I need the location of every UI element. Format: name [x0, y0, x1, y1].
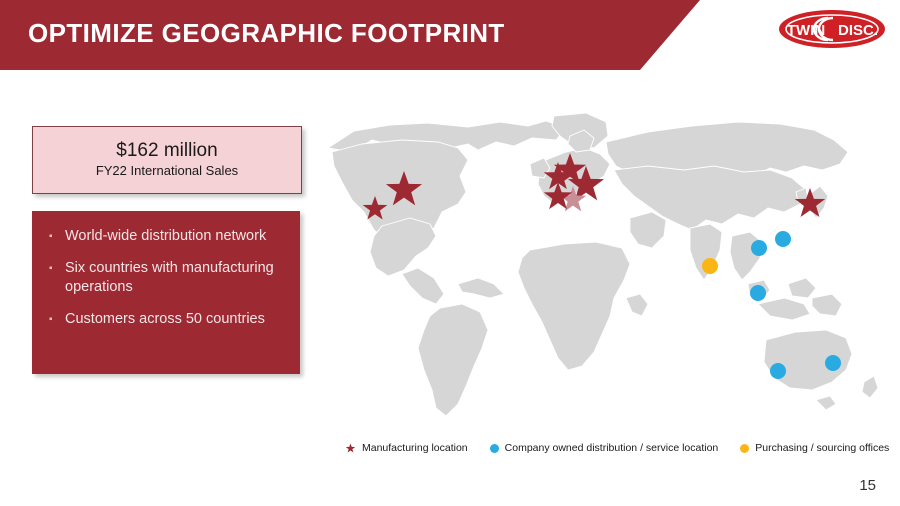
- list-item: ▪ Six countries with manufacturing opera…: [46, 259, 286, 297]
- twin-disc-logo: TWIN DISC.: [776, 6, 888, 52]
- logo-text-right: DISC.: [838, 22, 878, 39]
- bullet-text: Six countries with manufacturing operati…: [65, 259, 286, 297]
- sales-amount: $162 million: [116, 140, 217, 162]
- bullet-text: World-wide distribution network: [65, 227, 266, 246]
- legend-label-purchasing: Purchasing / sourcing offices: [755, 442, 889, 454]
- legend-item-distribution: Company owned distribution / service loc…: [490, 442, 719, 454]
- bullet-marker-icon: ▪: [46, 227, 65, 246]
- dot-china-east-icon: [775, 231, 791, 247]
- list-item: ▪ Customers across 50 countries: [46, 310, 286, 329]
- world-map: [318, 108, 893, 428]
- legend-item-manufacturing: Manufacturing location: [345, 442, 468, 454]
- sales-caption: FY22 International Sales: [96, 163, 238, 180]
- circle-icon: [740, 444, 749, 453]
- circle-icon: [490, 444, 499, 453]
- slide-root: OPTIMIZE GEOGRAPHIC FOOTPRINT TWIN DISC.…: [0, 0, 900, 506]
- highlights-box: ▪ World-wide distribution network ▪ Six …: [32, 211, 300, 374]
- bullet-text: Customers across 50 countries: [65, 310, 265, 329]
- list-item: ▪ World-wide distribution network: [46, 227, 286, 246]
- dot-australia-w-icon: [770, 363, 786, 379]
- purchasing-markers: [702, 258, 718, 274]
- legend-item-purchasing: Purchasing / sourcing offices: [740, 442, 889, 454]
- dot-singapore-icon: [750, 285, 766, 301]
- bullet-marker-icon: ▪: [46, 310, 65, 329]
- dot-india-icon: [702, 258, 718, 274]
- bullet-marker-icon: ▪: [46, 259, 65, 278]
- map-legend: Manufacturing location Company owned dis…: [345, 439, 885, 457]
- page-number: 15: [859, 477, 876, 494]
- legend-label-manufacturing: Manufacturing location: [362, 442, 468, 454]
- dot-australia-e-icon: [825, 355, 841, 371]
- legend-label-distribution: Company owned distribution / service loc…: [505, 442, 719, 454]
- map-landmasses: [328, 113, 878, 416]
- page-title: OPTIMIZE GEOGRAPHIC FOOTPRINT: [28, 18, 505, 49]
- international-sales-callout: $162 million FY22 International Sales: [32, 126, 302, 194]
- dot-china-south-icon: [751, 240, 767, 256]
- star-icon: [345, 443, 356, 454]
